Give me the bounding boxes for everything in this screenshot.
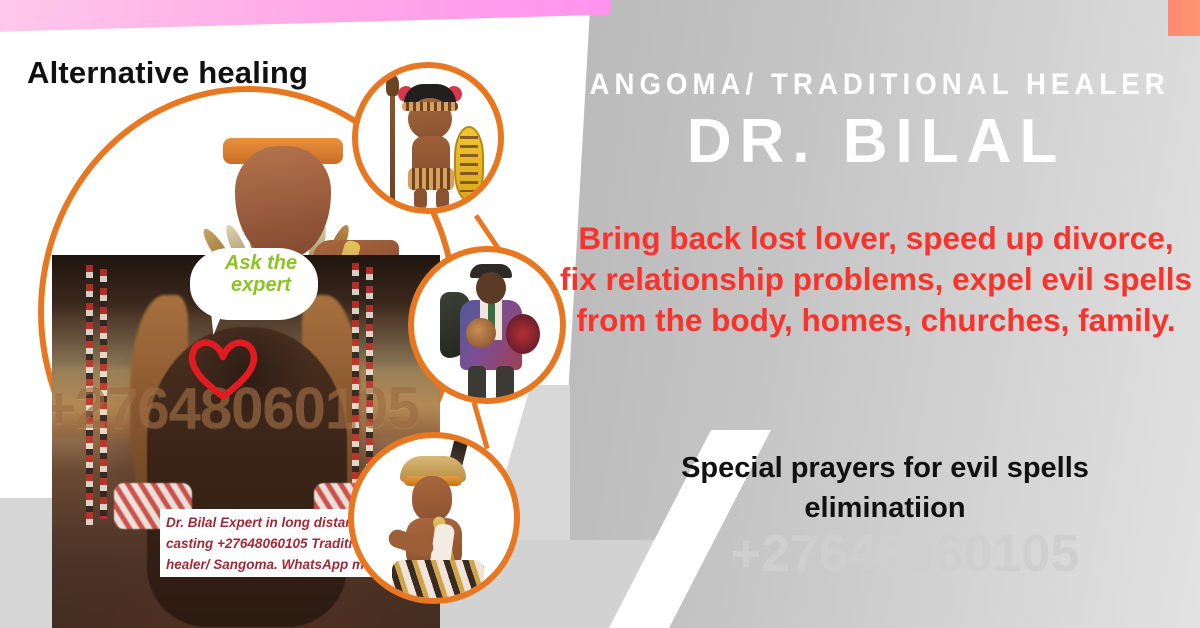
shield-icon	[506, 314, 540, 354]
speech-bubble-tail	[211, 307, 238, 335]
kicker-text: SANGOMA/ TRADITIONAL HEALER	[566, 68, 1136, 102]
warrior-leg	[436, 188, 449, 210]
healer-head	[476, 272, 506, 304]
dancer-skirt	[392, 560, 484, 600]
services-pitch: Bring back lost lover, speed up divorce,…	[556, 218, 1196, 341]
shield-pattern	[460, 136, 478, 192]
brand-name: DR. BILAL	[566, 106, 1186, 177]
warrior-headband	[402, 102, 458, 111]
healer-shoe	[494, 402, 516, 404]
chief-face	[235, 146, 331, 258]
badge-zulu-warrior[interactable]	[352, 62, 504, 214]
warrior-skirt	[408, 168, 454, 190]
healer-leg	[468, 366, 486, 404]
orange-ribbon	[1168, 0, 1200, 36]
badge-traditional-healer[interactable]	[408, 246, 566, 404]
speech-bubble-text: Ask the expert	[205, 252, 317, 296]
drum-icon	[466, 318, 496, 348]
alternative-healing-heading: Alternative healing	[27, 55, 308, 91]
healer-leg	[496, 366, 514, 404]
spear-icon	[390, 82, 395, 204]
orange-ribbon-wrap	[0, 0, 1200, 60]
dancer-head	[412, 476, 452, 522]
special-prayers-text: Special prayers for evil spells eliminat…	[600, 448, 1170, 528]
warrior-leg	[414, 188, 427, 210]
heart-icon	[186, 335, 260, 401]
poster-canvas: Alternative healing +27648060105	[0, 0, 1200, 628]
badge-sangoma-dancer[interactable]	[348, 432, 520, 604]
phone-watermark: +27648060105	[620, 524, 1190, 584]
